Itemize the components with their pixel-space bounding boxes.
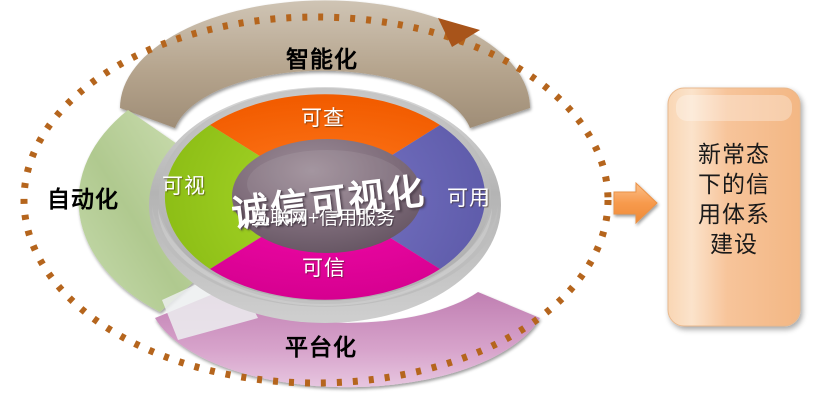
arrow-right-icon (614, 183, 657, 223)
diagram-vector-layer (0, 0, 820, 411)
core-ellipse[interactable] (232, 139, 422, 253)
diagram-canvas: 智能化 自动化 平台化 可查 可视 可用 可信 诚信可视化 互联网+信用服务 新… (0, 0, 820, 411)
result-callout[interactable] (668, 88, 800, 326)
